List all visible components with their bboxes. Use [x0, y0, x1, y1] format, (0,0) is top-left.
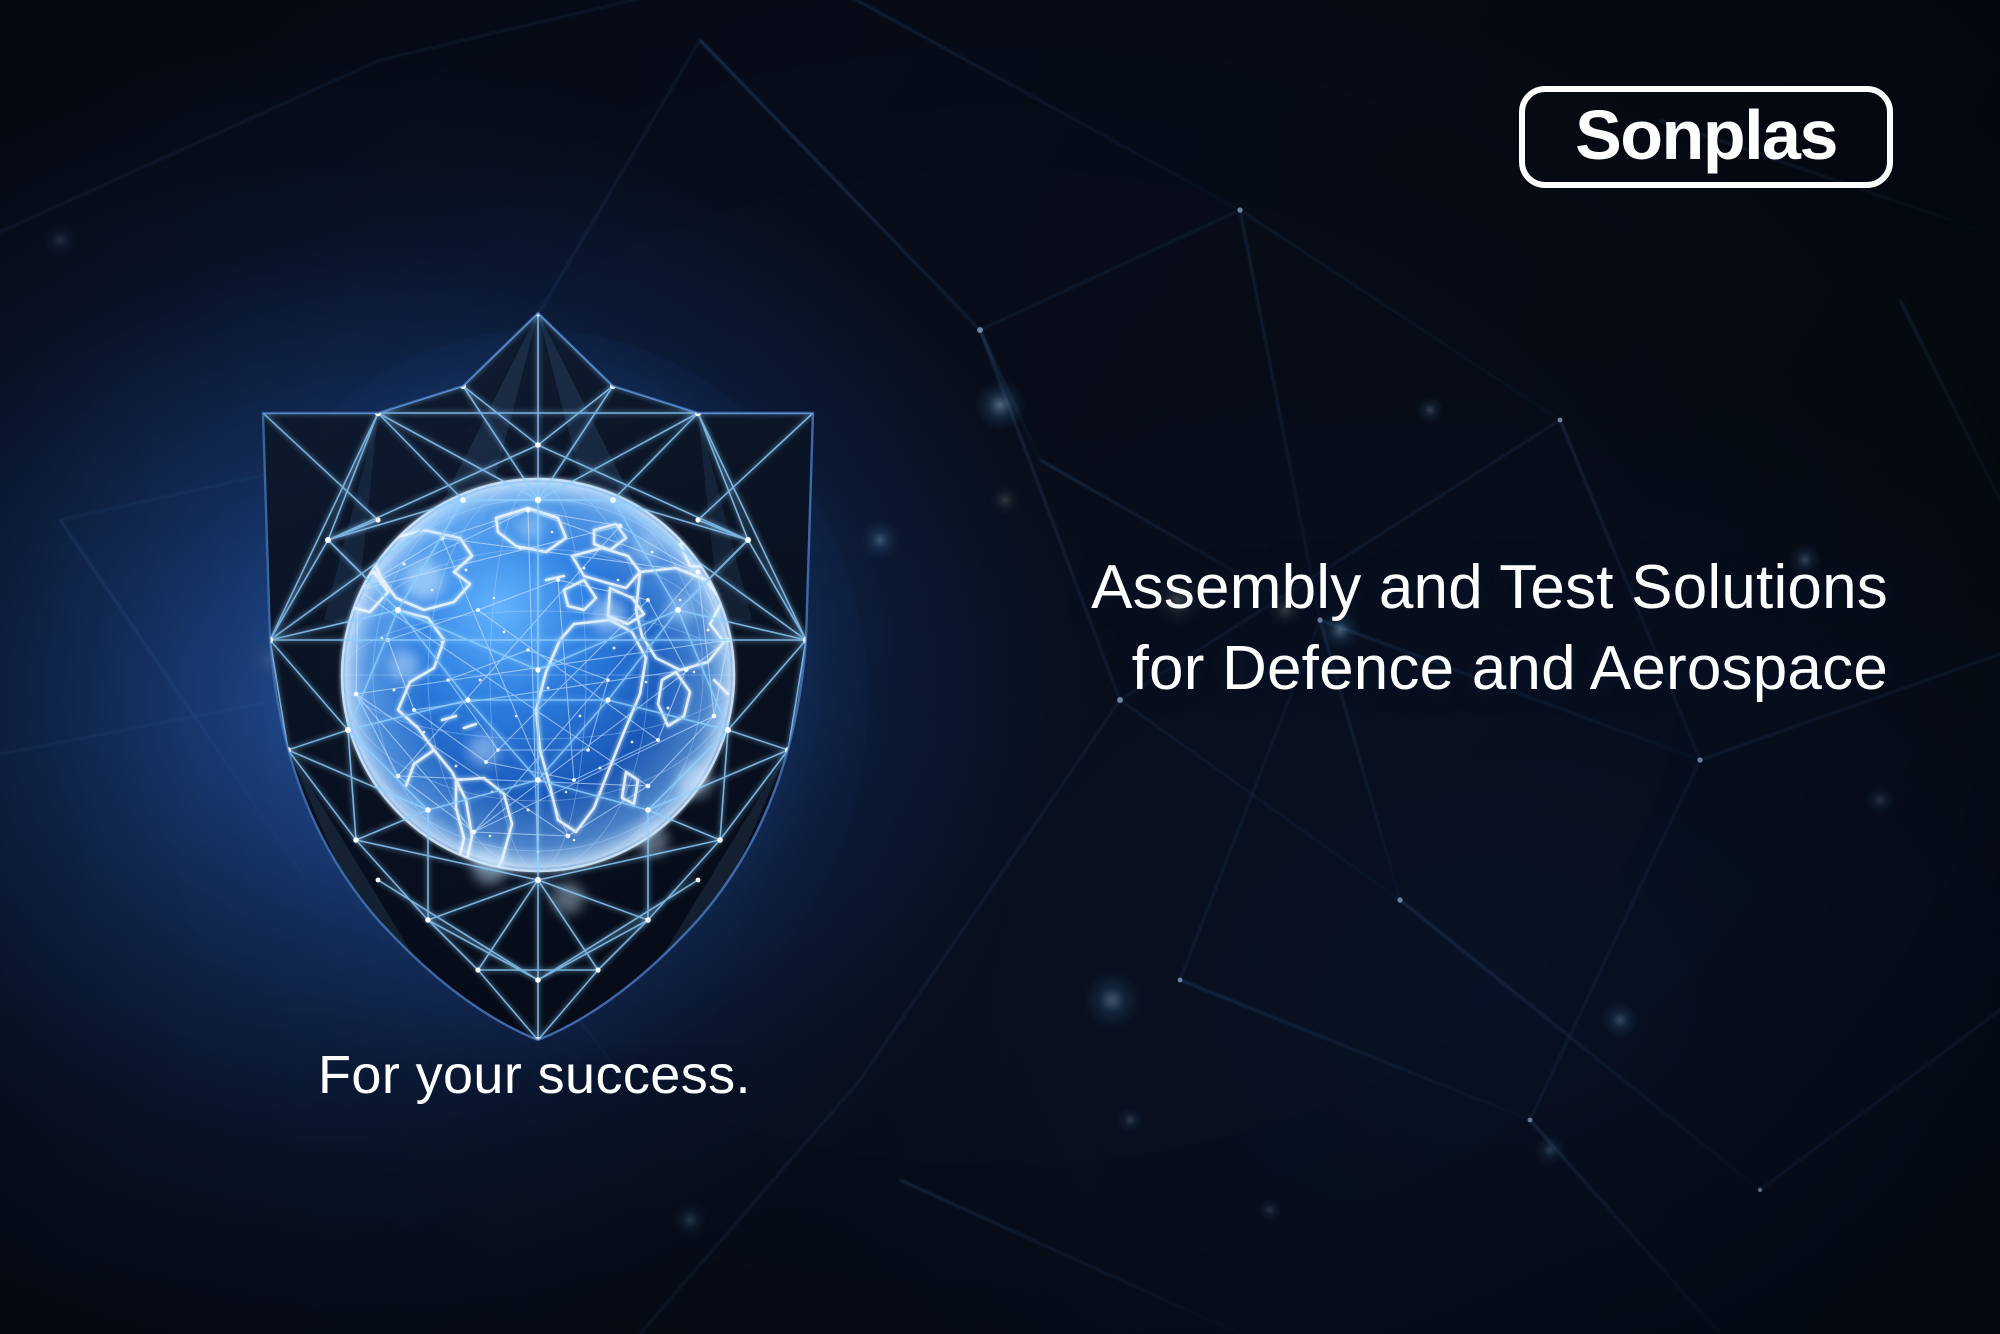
sonplas-logo[interactable]: Sonplas — [1519, 86, 1893, 188]
sonplas-logo-text: Sonplas — [1575, 100, 1837, 170]
headline-line-1: Assembly and Test Solutions — [1091, 548, 1888, 629]
shield-globe-network-illustration — [228, 280, 848, 1040]
headline-line-2: for Defence and Aerospace — [1091, 629, 1888, 710]
hero-tagline: For your success. — [318, 1046, 751, 1105]
hero-banner: Sonplas Assembly and Test Solutions for … — [0, 0, 2000, 1334]
hero-headline: Assembly and Test Solutions for Defence … — [1091, 548, 1888, 709]
